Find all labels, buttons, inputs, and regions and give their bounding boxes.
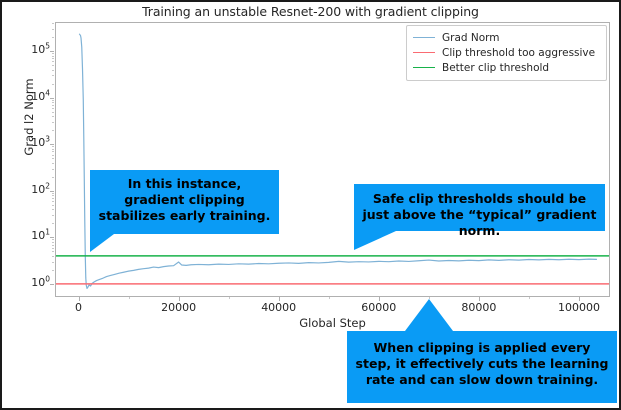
y-tick-minor <box>52 130 54 131</box>
x-tick-label: 60000 <box>361 301 396 314</box>
y-tick-minor <box>52 116 54 117</box>
legend-swatch-icon <box>413 52 435 53</box>
y-tick-minor <box>52 65 54 66</box>
y-tick-mark <box>50 237 54 238</box>
legend-label: Better clip threshold <box>442 62 549 74</box>
x-tick-label: 0 <box>75 301 82 314</box>
x-tick-label: 20000 <box>161 301 196 314</box>
y-tick-minor <box>52 198 54 199</box>
legend-item: Grad Norm <box>413 30 600 45</box>
y-tick-minor <box>52 53 54 54</box>
y-tick-minor <box>52 239 54 240</box>
x-tick-mark <box>579 297 580 301</box>
screenshot-root: Training an unstable Resnet-200 with gra… <box>0 0 621 410</box>
chart-title: Training an unstable Resnet-200 with gra… <box>2 4 619 19</box>
y-tick-minor <box>52 37 54 38</box>
y-tick-mark <box>50 51 54 52</box>
y-tick-minor <box>52 205 54 206</box>
x-tick-label: 40000 <box>261 301 296 314</box>
y-tick-minor <box>52 215 54 216</box>
x-tick-label: 80000 <box>461 301 496 314</box>
legend-label: Clip threshold too aggressive <box>442 47 595 59</box>
matplotlib-figure: Training an unstable Resnet-200 with gra… <box>2 2 619 408</box>
y-tick-minor <box>52 102 54 103</box>
x-tick-minor <box>429 297 430 299</box>
y-tick-minor <box>52 193 54 194</box>
x-tick-mark <box>179 297 180 301</box>
y-tick-minor <box>52 245 54 246</box>
annotation-callout-early-training: In this instance, gradient clipping stab… <box>90 170 279 234</box>
y-tick-minor <box>52 61 54 62</box>
annotation-callout-tail <box>354 231 396 250</box>
y-tick-minor <box>52 146 54 147</box>
y-tick-minor <box>52 262 54 263</box>
x-tick-mark <box>79 297 80 301</box>
y-tick-mark <box>50 284 54 285</box>
y-tick-minor <box>52 70 54 71</box>
x-tick-minor <box>129 297 130 299</box>
y-tick-minor <box>52 242 54 243</box>
x-tick-minor <box>229 297 230 299</box>
y-tick-minor <box>52 56 54 57</box>
y-tick-minor <box>52 163 54 164</box>
y-tick-mark <box>50 98 54 99</box>
annotation-callout-tail <box>90 234 114 252</box>
y-tick-minor <box>52 169 54 170</box>
y-tick-minor <box>52 122 54 123</box>
chart-legend: Grad NormClip threshold too aggressiveBe… <box>406 25 607 81</box>
legend-swatch-icon <box>413 67 435 68</box>
y-tick-label: 101 <box>31 230 50 241</box>
y-tick-minor <box>52 223 54 224</box>
x-axis-label: Global Step <box>55 316 610 330</box>
y-tick-minor <box>52 75 54 76</box>
x-tick-minor <box>529 297 530 299</box>
y-tick-minor <box>52 177 54 178</box>
x-tick-minor <box>329 297 330 299</box>
annotation-callout-learning-rate: When clipping is applied every step, it … <box>347 331 617 403</box>
y-tick-minor <box>52 151 54 152</box>
y-tick-minor <box>52 100 54 101</box>
y-tick-minor <box>52 84 54 85</box>
y-axis-label: Grad l2 Norm <box>22 42 36 192</box>
y-tick-minor <box>52 58 54 59</box>
x-tick-label: 100000 <box>558 301 600 314</box>
y-tick-mark <box>50 144 54 145</box>
y-tick-minor <box>52 201 54 202</box>
legend-item: Better clip threshold <box>413 60 600 75</box>
y-tick-minor <box>52 195 54 196</box>
y-tick-label: 100 <box>31 277 50 288</box>
y-tick-minor <box>52 23 54 24</box>
y-tick-minor <box>52 270 54 271</box>
y-tick-minor <box>52 105 54 106</box>
y-tick-minor <box>52 158 54 159</box>
y-tick-minor <box>52 108 54 109</box>
annotation-callout-tail <box>405 299 453 331</box>
x-tick-mark <box>379 297 380 301</box>
legend-swatch-icon <box>413 37 435 38</box>
annotation-callout-safe-threshold: Safe clip thresholds should be just abov… <box>354 184 605 231</box>
y-tick-minor <box>52 251 54 252</box>
y-tick-minor <box>52 209 54 210</box>
y-tick-minor <box>52 256 54 257</box>
legend-item: Clip threshold too aggressive <box>413 45 600 60</box>
y-tick-minor <box>52 248 54 249</box>
y-tick-minor <box>52 112 54 113</box>
y-tick-mark <box>50 191 54 192</box>
y-tick-minor <box>52 155 54 156</box>
y-tick-minor <box>52 29 54 30</box>
x-tick-mark <box>279 297 280 301</box>
y-tick-minor <box>52 149 54 150</box>
x-tick-mark <box>479 297 480 301</box>
legend-label: Grad Norm <box>442 32 500 44</box>
